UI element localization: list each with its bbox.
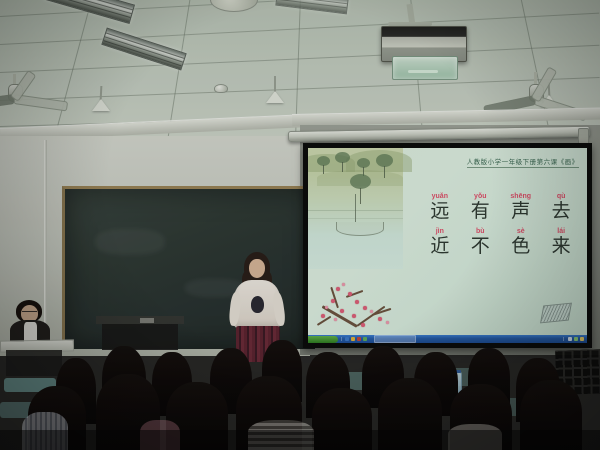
pendant-light <box>92 99 110 111</box>
hanzi: 去 <box>541 202 581 221</box>
slide-landscape-painting <box>308 148 403 269</box>
start-button[interactable] <box>308 336 338 343</box>
character-cell: qù 去 <box>541 193 581 221</box>
pinyin: qù <box>541 193 581 200</box>
ceiling-runner <box>53 0 93 141</box>
hanzi: 有 <box>460 202 500 221</box>
ceiling-tile-line <box>0 45 599 73</box>
podium-paper <box>140 318 154 323</box>
glasses-icon <box>22 311 37 314</box>
smoke-detector-icon <box>214 84 228 93</box>
media-icon[interactable] <box>357 337 361 341</box>
hanzi: 近 <box>420 237 460 256</box>
character-cell: shēng 声 <box>501 193 541 221</box>
hanzi: 声 <box>501 202 541 221</box>
character-row: jìn 近 bù 不 sè 色 lái 来 <box>420 228 582 256</box>
pendant-rod <box>100 86 103 100</box>
slide-header-text: 人教版小学一年级下册第六课《画》 <box>467 156 579 168</box>
system-tray[interactable] <box>563 337 587 341</box>
slide-character-grid: yuǎn 远 yǒu 有 shēng 声 qù <box>420 193 582 256</box>
podium-body <box>102 324 178 350</box>
screen-frame: 人教版小学一年级下册第六课《画》 yuǎn 远 yǒu 有 shēng <box>303 143 592 348</box>
round-ceiling-lamp <box>210 0 258 12</box>
volume-icon[interactable] <box>568 337 572 341</box>
hanzi: 色 <box>501 237 541 256</box>
presenter-emblem <box>251 296 264 313</box>
character-cell: jìn 近 <box>420 228 460 256</box>
desktop-icon[interactable] <box>363 337 367 341</box>
hanzi: 不 <box>460 237 500 256</box>
hanzi: 远 <box>420 202 460 221</box>
classroom-photo: 夏 <box>0 0 600 450</box>
ie-icon[interactable] <box>345 337 349 341</box>
ceiling-tile-line <box>0 77 600 101</box>
pinyin: sè <box>501 228 541 235</box>
character-cell: sè 色 <box>501 228 541 256</box>
pendant-rod <box>274 76 276 92</box>
folder-icon[interactable] <box>351 337 355 341</box>
character-row: yuǎn 远 yǒu 有 shēng 声 qù <box>420 193 582 221</box>
pinyin: jìn <box>420 228 460 235</box>
pinyin: yuǎn <box>420 193 460 200</box>
pendant-light <box>266 91 284 103</box>
network-icon[interactable] <box>574 337 578 341</box>
taskbar-item[interactable] <box>374 335 416 343</box>
character-cell: lái 来 <box>541 228 581 256</box>
foreground-shadow <box>0 430 600 450</box>
pinyin: shēng <box>501 193 541 200</box>
projected-slide: 人教版小学一年级下册第六课《画》 yuǎn 远 yǒu 有 shēng <box>308 148 587 343</box>
windows-taskbar[interactable] <box>308 335 587 343</box>
book-icon <box>540 302 572 323</box>
fluorescent-light <box>275 0 348 14</box>
quick-launch[interactable] <box>341 337 370 341</box>
desk-front <box>6 350 62 376</box>
character-cell: yuǎn 远 <box>420 193 460 221</box>
pinyin: yǒu <box>460 193 500 200</box>
pinyin: lái <box>541 228 581 235</box>
ime-icon[interactable] <box>580 337 584 341</box>
hanzi: 来 <box>541 237 581 256</box>
character-cell: yǒu 有 <box>460 193 500 221</box>
slide-plum-branch <box>314 265 409 335</box>
pinyin: bù <box>460 228 500 235</box>
character-cell: bù 不 <box>460 228 500 256</box>
